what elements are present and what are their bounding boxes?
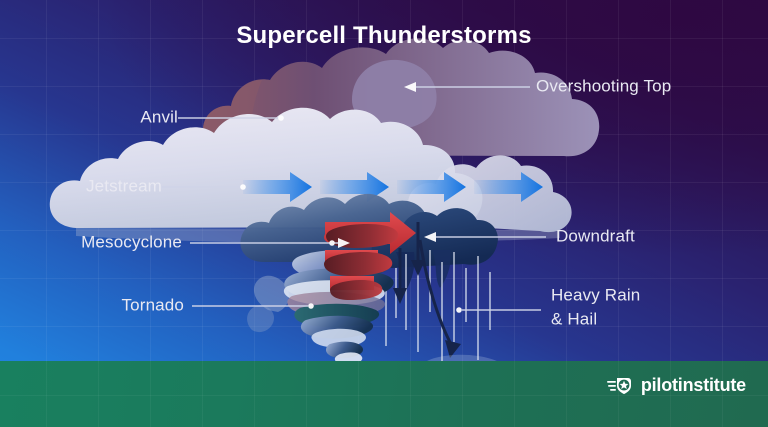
brand-logo[interactable]: pilotinstitute <box>607 374 746 396</box>
label-mesocyclone: Mesocyclone <box>81 232 182 255</box>
infographic-canvas: Supercell Thunderstorms Anvil Jetstream … <box>0 0 768 427</box>
logo-text: pilotinstitute <box>641 375 746 396</box>
label-and-hail: & Hail <box>551 309 597 332</box>
winged-shield-star-icon <box>607 374 635 396</box>
label-downdraft: Downdraft <box>556 226 635 249</box>
page-title: Supercell Thunderstorms <box>0 22 768 50</box>
label-overshooting-top: Overshooting Top <box>536 76 671 99</box>
label-heavy-rain: Heavy Rain <box>551 285 640 308</box>
label-tornado: Tornado <box>122 295 184 318</box>
label-jetstream: Jetstream <box>86 176 162 199</box>
label-anvil: Anvil <box>140 107 178 130</box>
